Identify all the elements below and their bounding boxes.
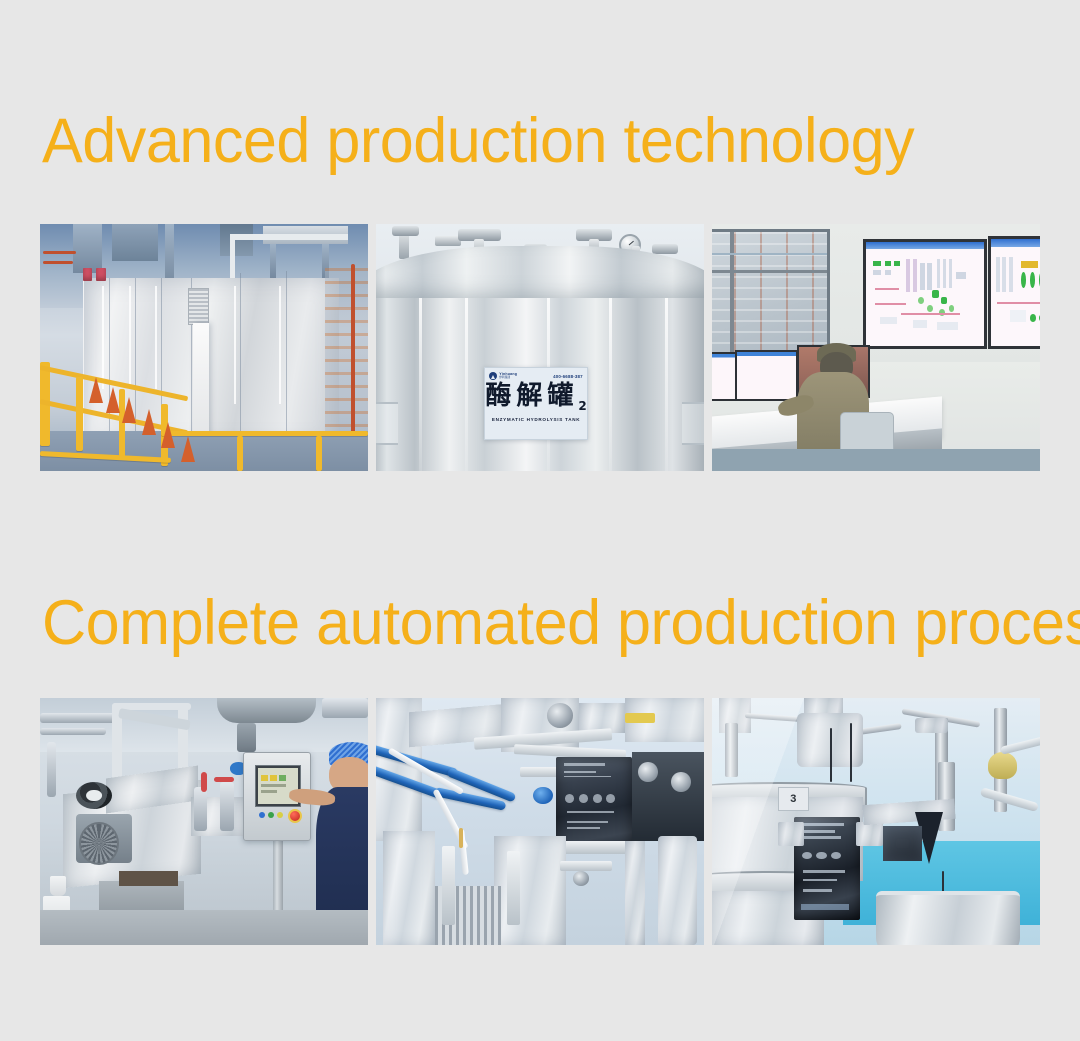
product-pouch — [556, 757, 631, 853]
photo-operator-hmi[interactable] — [40, 698, 368, 945]
tank-label-chinese: 酶解罐2 — [485, 382, 586, 413]
photo-control-room-scene — [712, 224, 1040, 471]
wall-scada-screen-right — [988, 236, 1040, 348]
emergency-stop-button[interactable] — [288, 809, 302, 823]
photo-operator-hmi-scene — [40, 698, 368, 945]
photo-gallery-complete-automated-production-process: 3 — [40, 698, 1040, 945]
spouted-pouch-in-gripper — [794, 817, 860, 921]
hmi-button-yellow[interactable] — [277, 812, 283, 818]
tank-nameplate: Yinhuang 伊利集团 400-6688-387 酶解罐2 ENZYMATI… — [484, 367, 588, 440]
tank-label-number: 2 — [578, 399, 586, 413]
collection-bowl — [876, 891, 1020, 945]
photo-enzymatic-hydrolysis-tank[interactable]: Yinhuang 伊利集团 400-6688-387 酶解罐2 ENZYMATI… — [376, 224, 704, 471]
photo-rotary-pouch-filler-scene: 3 — [712, 698, 1040, 945]
brand-mark: Yinhuang 伊利集团 — [489, 372, 517, 380]
photo-rotary-pouch-filler[interactable]: 3 — [712, 698, 1040, 945]
page-root: Advanced production technology — [0, 0, 1080, 1041]
photo-drying-line[interactable] — [40, 224, 368, 471]
photo-enzymatic-hydrolysis-tank-scene: Yinhuang 伊利集团 400-6688-387 酶解罐2 ENZYMATI… — [376, 224, 704, 471]
station-number-badge: 3 — [778, 787, 810, 811]
tank-label-english: ENZYMATIC HYDROLYSIS TANK — [492, 417, 580, 422]
brand-name-cn: 伊利集团 — [499, 377, 517, 380]
photo-control-room[interactable] — [712, 224, 1040, 471]
photo-packaging-machine-scene — [376, 698, 704, 945]
page-title-advanced-production-technology: Advanced production technology — [42, 110, 914, 173]
photo-gallery-advanced-production-technology: Yinhuang 伊利集团 400-6688-387 酶解罐2 ENZYMATI… — [40, 224, 1040, 471]
company-logo-icon — [489, 372, 497, 380]
tank-dome — [376, 246, 704, 305]
page-title-complete-automated-production-process: Complete automated production process — [42, 592, 1080, 655]
hotline-number: 400-6688-387 — [553, 374, 583, 379]
wall-scada-screen-left — [863, 239, 987, 349]
hmi-button-green[interactable] — [268, 812, 274, 818]
photo-drying-line-scene — [40, 224, 368, 471]
photo-packaging-machine[interactable] — [376, 698, 704, 945]
desk-monitor-2 — [735, 350, 798, 401]
hmi-button-blue[interactable] — [259, 812, 265, 818]
